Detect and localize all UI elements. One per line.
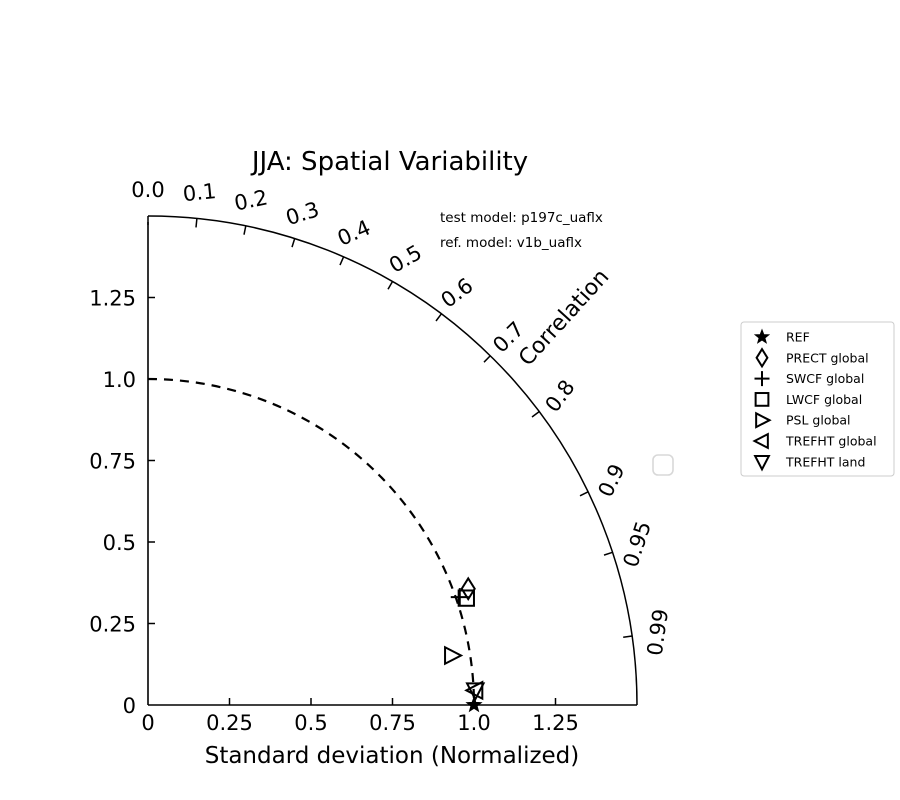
correlation-tick-mark [484,356,490,362]
y-axis-ticks: 00.250.50.751.01.25 [89,287,155,719]
data-point-prect-global [462,578,475,599]
svg-text:0.3: 0.3 [283,197,322,230]
correlation-axis-title-text: Correlation [514,265,614,372]
x-tick-label: 0.5 [294,711,327,735]
taylor-diagram-canvas: JJA: Spatial Variability test model: p19… [0,0,900,800]
legend-item-label: PSL global [786,413,851,428]
correlation-tick-label: 0.2 [232,185,270,215]
legend-item-label: LWCF global [786,392,862,407]
correlation-tick-mark [436,314,441,321]
x-tick-label: 0.25 [206,711,253,735]
x-tick-label: 1.0 [457,711,490,735]
svg-text:0.4: 0.4 [334,215,374,250]
correlation-axis-title: Correlation [514,265,614,372]
correlation-tick-mark [388,282,393,290]
x-tick-label: 0 [141,711,154,735]
legend-item-label: SWCF global [786,371,864,386]
data-point-markers [445,578,484,711]
y-tick-label: 0.25 [89,613,136,637]
y-tick-label: 0.75 [89,450,136,474]
data-point-ref [467,697,481,711]
correlation-tick-label: 0.95 [619,518,656,570]
y-tick-label: 0.5 [103,531,136,555]
x-axis-label: Standard deviation (Normalized) [205,743,580,769]
correlation-tick-label: 0.6 [436,273,477,312]
correlation-axis-labels: 0.00.10.20.30.40.50.60.70.80.90.950.99 [131,178,673,657]
legend-item-label: REF [786,330,810,345]
correlation-tick-mark [196,218,197,227]
correlation-tick-mark [604,552,613,555]
reference-stddev-arc [148,379,474,705]
legend-item-label: TREFHT land [785,454,865,469]
svg-text:0.95: 0.95 [619,518,656,570]
correlation-tick-label: 0.1 [182,179,218,206]
x-axis-ticks: 00.250.50.751.01.25 [141,698,579,735]
page-title: JJA: Spatial Variability [250,147,528,177]
legend: REFPRECT globalSWCF globalLWCF globalPSL… [741,322,894,476]
correlation-tick-mark [580,492,588,496]
plot-axes [148,222,637,705]
svg-text:0.8: 0.8 [540,375,579,416]
svg-text:0.0: 0.0 [131,178,164,202]
correlation-tick-mark [340,257,344,265]
x-tick-label: 0.75 [369,711,416,735]
y-tick-label: 1.25 [89,287,136,311]
correlation-tick-mark [532,412,539,417]
correlation-tick-label: 0.5 [385,240,426,277]
ghost-placeholder-box [653,455,673,475]
correlation-tick-label: 0.99 [643,608,673,658]
correlation-tick-mark [292,239,295,248]
data-point-psl-global [445,647,461,664]
y-tick-label: 1.0 [103,368,136,392]
taylor-diagram-figure: JJA: Spatial Variability test model: p19… [0,0,900,800]
outer-correlation-arc [148,216,637,705]
svg-text:0.6: 0.6 [436,273,477,312]
svg-text:0.9: 0.9 [593,460,629,501]
correlation-tick-mark [244,226,246,235]
svg-text:0.99: 0.99 [643,608,673,658]
svg-text:0.1: 0.1 [182,179,218,206]
correlation-tick-label: 0.0 [131,178,164,202]
test-model-annotation: test model: p197c_uaflx [440,210,603,226]
svg-text:0.2: 0.2 [232,185,270,215]
correlation-tick-label: 0.4 [334,215,374,250]
ref-model-annotation: ref. model: v1b_uaflx [440,235,582,251]
svg-text:0.5: 0.5 [385,240,426,277]
correlation-tick-label: 0.9 [593,460,629,501]
correlation-tick-mark [623,636,632,637]
legend-item-label: PRECT global [786,350,869,365]
correlation-tick-label: 0.3 [283,197,322,230]
legend-item-label: TREFHT global [785,434,877,449]
correlation-tick-label: 0.8 [540,375,579,416]
y-tick-label: 0 [123,694,136,718]
x-tick-label: 1.25 [532,711,579,735]
